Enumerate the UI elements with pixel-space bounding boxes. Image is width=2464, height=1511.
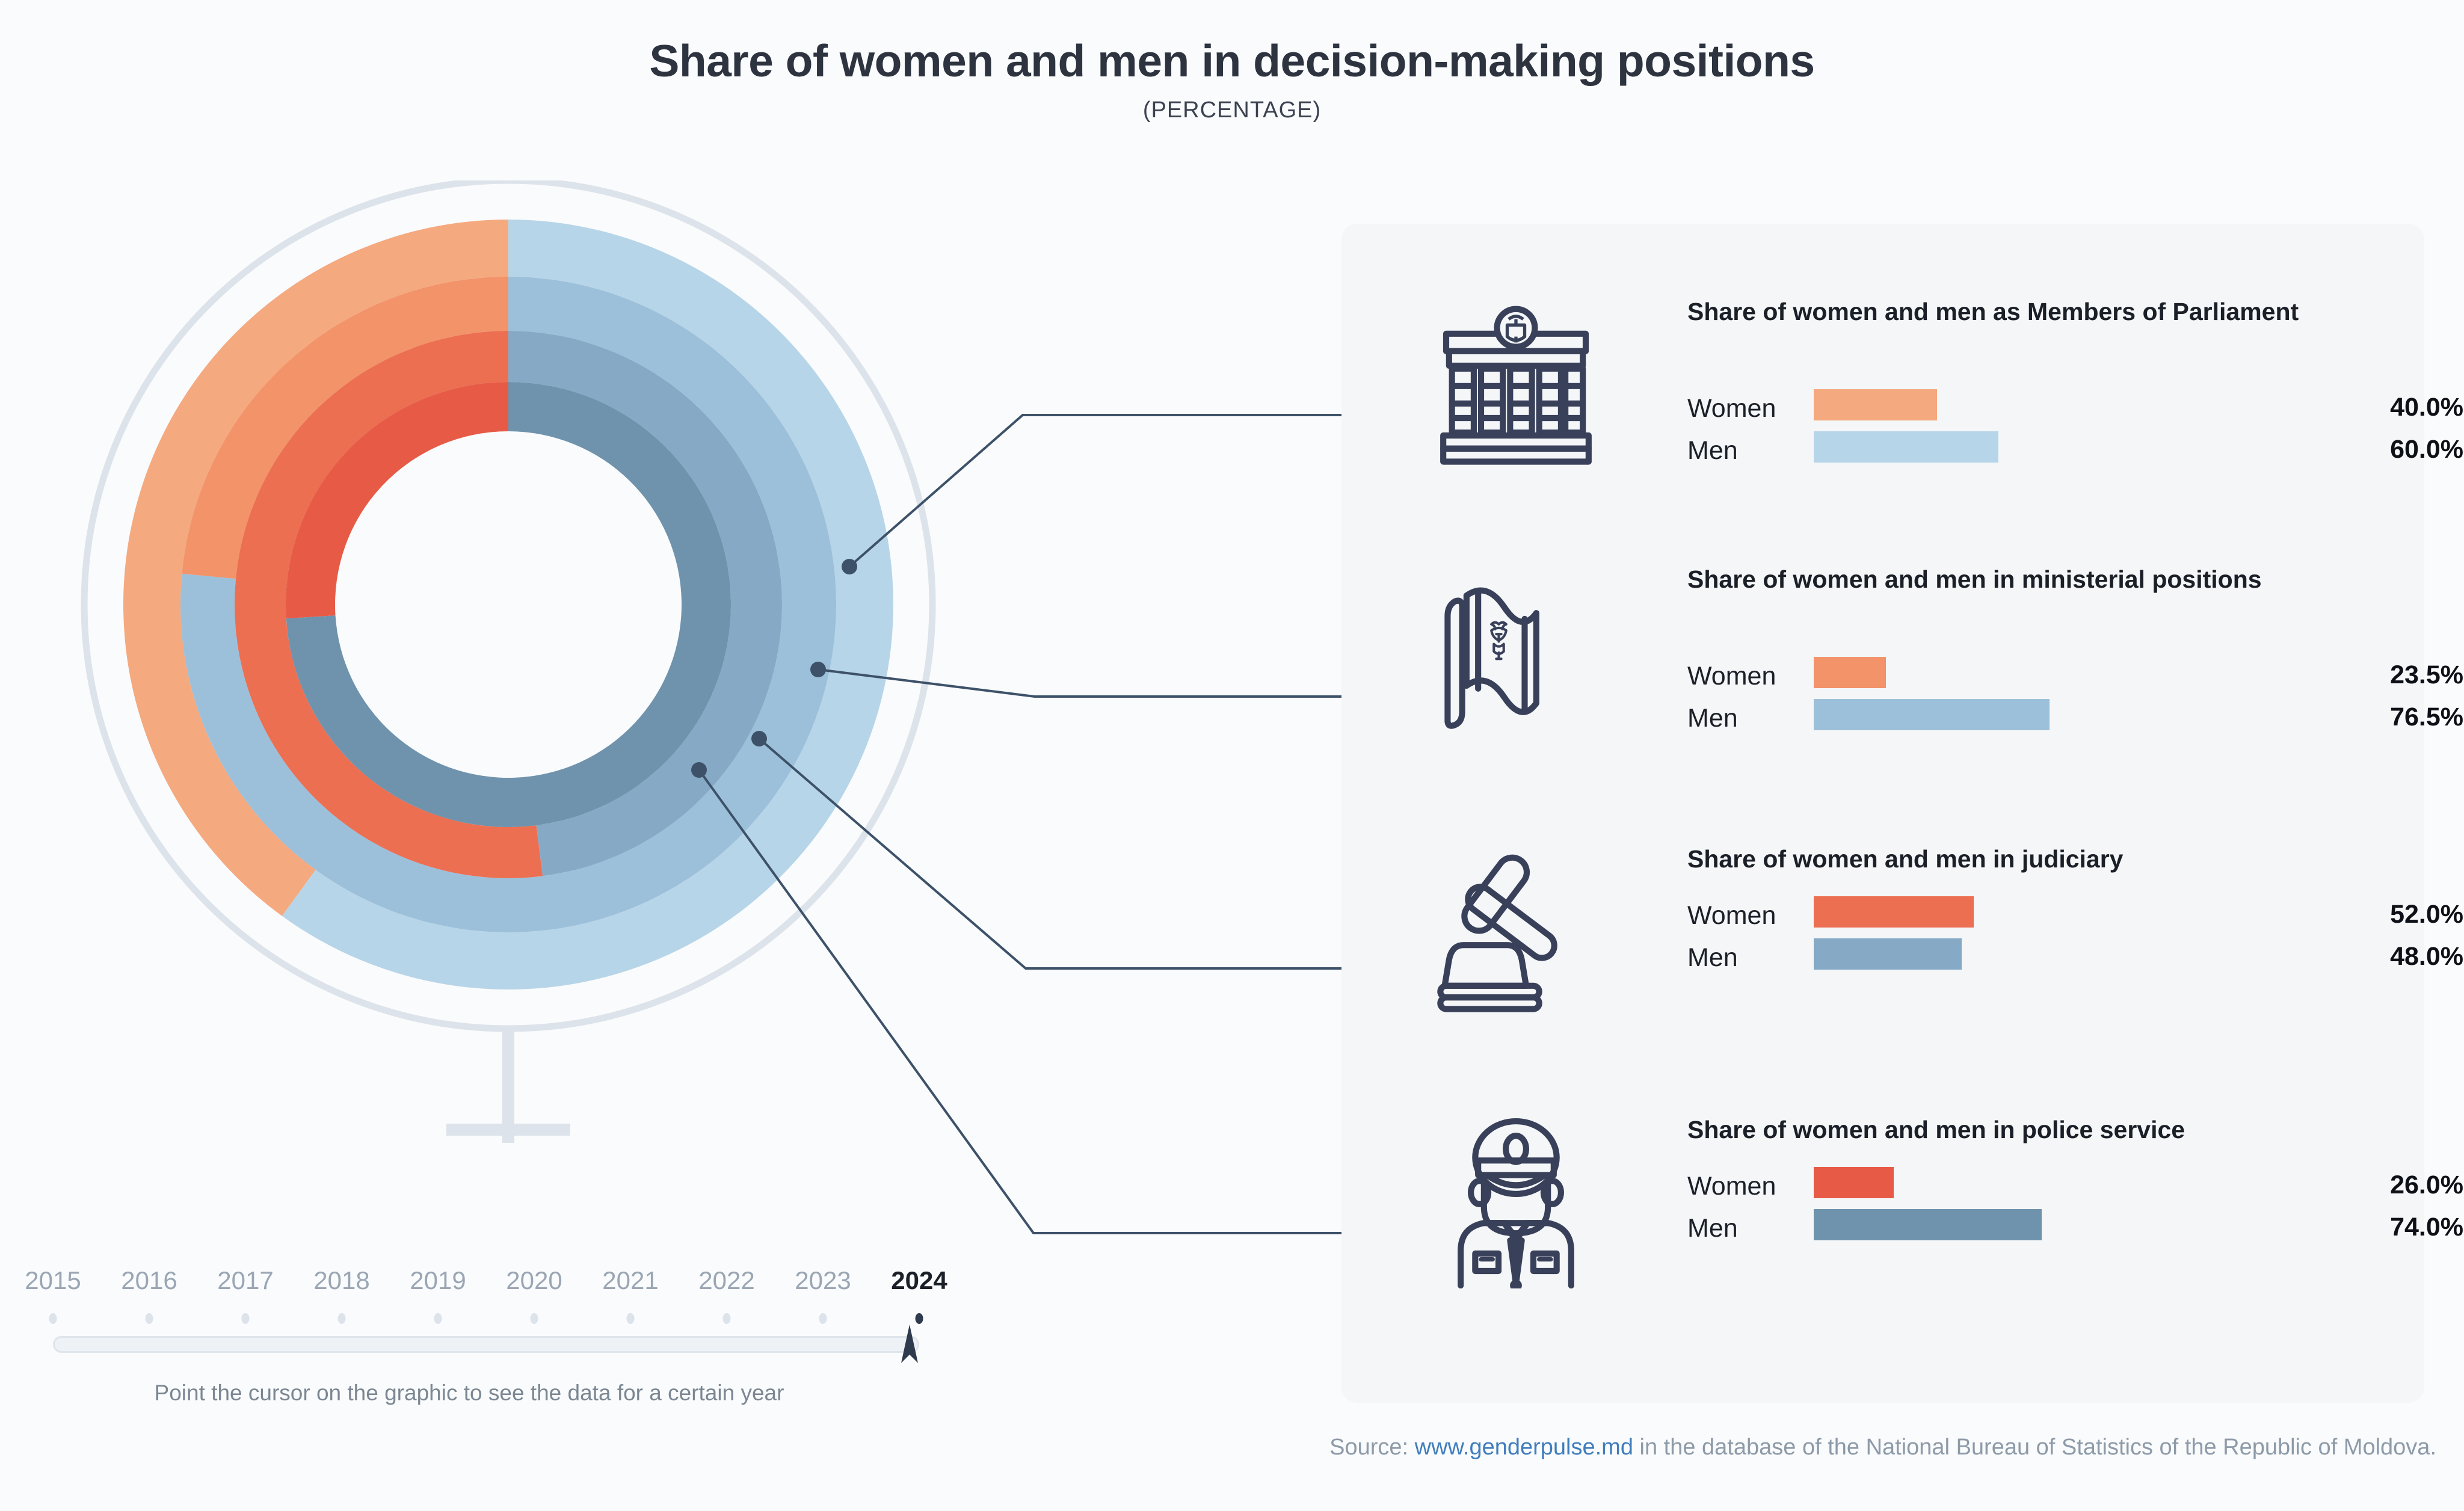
donut-chart[interactable] [0, 180, 1323, 1143]
source-footer: Source: www.genderpulse.md in the databa… [0, 1435, 2436, 1460]
year-label-2018[interactable]: 2018 [313, 1266, 369, 1295]
row-label-men: Men [1687, 943, 1738, 973]
donut-rings [123, 220, 893, 989]
year-slider-thumb[interactable] [898, 1325, 922, 1369]
year-tick-2016[interactable] [146, 1313, 153, 1324]
year-tick-2019[interactable] [434, 1313, 442, 1324]
bar-men [1814, 1209, 2042, 1240]
year-tick-2017[interactable] [242, 1313, 250, 1324]
year-tick-2024[interactable] [916, 1313, 923, 1324]
row-value-women: 52.0% [2283, 900, 2463, 929]
row-value-men: 76.5% [2283, 703, 2463, 732]
source-prefix: Source: [1329, 1435, 1415, 1460]
row-value-women: 40.0% [2283, 393, 2463, 422]
year-tick-2018[interactable] [338, 1313, 346, 1324]
source-suffix: in the database of the National Bureau o… [1633, 1435, 2436, 1460]
year-label-2017[interactable]: 2017 [217, 1266, 273, 1295]
row-value-women: 23.5% [2283, 660, 2463, 690]
year-label-2023[interactable]: 2023 [795, 1266, 851, 1295]
bar-women [1814, 1167, 1894, 1198]
year-label-2020[interactable]: 2020 [506, 1266, 562, 1295]
row-label-women: Women [1687, 1172, 1776, 1201]
row-label-men: Men [1687, 436, 1738, 466]
source-link[interactable]: www.genderpulse.md [1415, 1435, 1633, 1460]
gavel-icon [1426, 843, 1606, 1018]
moldova-flag-icon [1426, 564, 1606, 738]
bar-men [1814, 431, 1998, 463]
donut-chart-svg [0, 180, 1323, 1143]
row-value-men: 74.0% [2283, 1213, 2463, 1242]
row-label-women: Women [1687, 394, 1776, 423]
bar-women [1814, 657, 1886, 688]
venus-symbol-cross [446, 1029, 570, 1143]
row-label-men: Men [1687, 1214, 1738, 1243]
year-tick-2015[interactable] [49, 1313, 57, 1324]
year-labels: 2015201620172018201920202021202220232024 [42, 1266, 944, 1308]
card-title: Share of women and men in ministerial po… [1687, 564, 2337, 595]
card-title: Share of women and men in judiciary [1687, 843, 2337, 875]
year-tick-2022[interactable] [723, 1313, 731, 1324]
year-label-2022[interactable]: 2022 [698, 1266, 754, 1295]
year-tick-2021[interactable] [627, 1313, 635, 1324]
page-subtitle: (PERCENTAGE) [0, 97, 2464, 123]
year-tick-2020[interactable] [531, 1313, 538, 1324]
year-label-2021[interactable]: 2021 [602, 1266, 658, 1295]
card-title: Share of women and men as Members of Par… [1687, 296, 2337, 327]
parliament-building-icon [1426, 296, 1606, 470]
indicator-panel: Share of women and men as Members of Par… [1341, 224, 2424, 1403]
year-tick-2023[interactable] [819, 1313, 827, 1324]
row-label-men: Men [1687, 704, 1738, 733]
bar-men [1814, 938, 1962, 970]
bar-men [1814, 699, 2050, 730]
year-label-2015[interactable]: 2015 [25, 1266, 81, 1295]
police-officer-icon [1426, 1114, 1606, 1288]
timeline-hint: Point the cursor on the graphic to see t… [0, 1380, 938, 1406]
row-value-men: 48.0% [2283, 942, 2463, 971]
row-label-women: Women [1687, 662, 1776, 691]
year-slider-track[interactable] [53, 1336, 919, 1353]
bar-women [1814, 896, 1974, 928]
year-label-2024[interactable]: 2024 [891, 1266, 947, 1295]
row-value-men: 60.0% [2283, 435, 2463, 464]
year-label-2016[interactable]: 2016 [121, 1266, 177, 1295]
row-value-women: 26.0% [2283, 1171, 2463, 1200]
bar-women [1814, 389, 1937, 420]
infographic-root: Share of women and men in decision-makin… [0, 0, 2464, 1511]
page-title: Share of women and men in decision-makin… [0, 35, 2464, 87]
year-ticks[interactable] [42, 1313, 944, 1326]
card-title: Share of women and men in police service [1687, 1114, 2337, 1145]
row-label-women: Women [1687, 901, 1776, 931]
year-label-2019[interactable]: 2019 [410, 1266, 466, 1295]
